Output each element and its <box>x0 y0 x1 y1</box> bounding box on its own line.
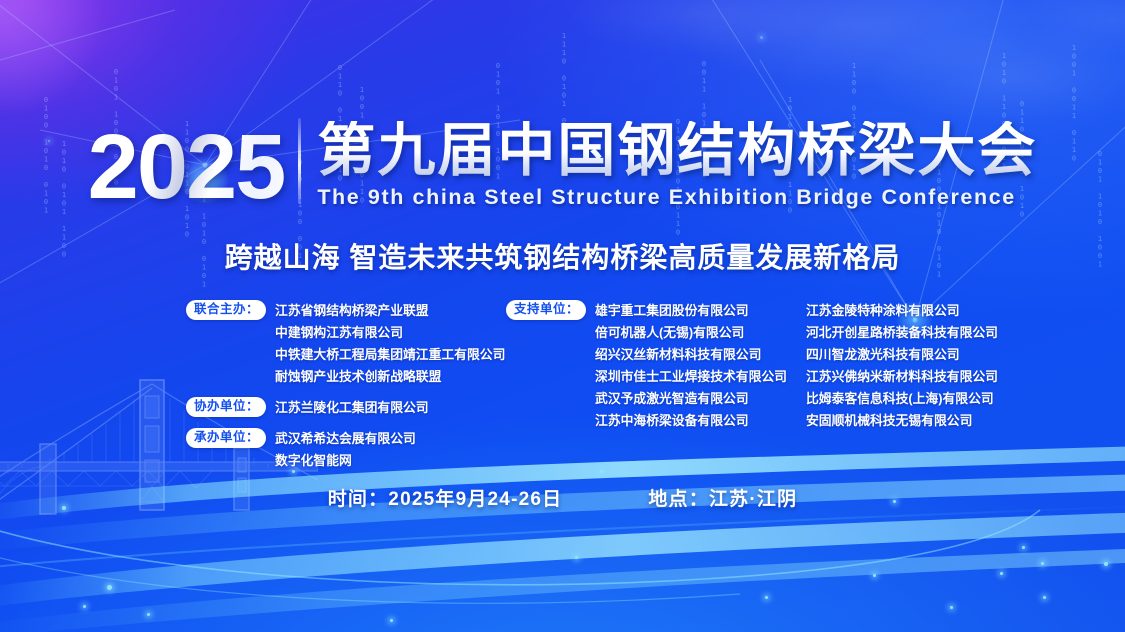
list-item: 江苏兰陵化工集团有限公司 <box>275 397 429 419</box>
list-item: 雄宇重工集团股份有限公司 <box>595 300 787 322</box>
banner-header: 2025 第九届中国钢结构桥梁大会 The 9th china Steel St… <box>0 118 1125 210</box>
list-item: 安固顺机械科技无锡有限公司 <box>806 410 998 432</box>
organizations-right-column: 江苏金陵特种涂料有限公司 河北开创星路桥装备科技有限公司 四川智龙激光科技有限公… <box>806 300 1106 432</box>
org-list-undertakers: 武汉希希达会展有限公司 数字化智能网 <box>275 428 416 472</box>
org-list-co-organizers: 江苏兰陵化工集团有限公司 <box>275 397 429 419</box>
list-item: 中铁建大桥工程局集团靖江重工有限公司 <box>275 344 505 366</box>
list-item: 江苏兴佛纳米新材料科技有限公司 <box>806 366 998 388</box>
list-item: 比姆泰客信息科技(上海)有限公司 <box>806 388 998 410</box>
conference-title-english: The 9th china Steel Structure Exhibition… <box>317 185 1037 210</box>
list-item: 武汉予成激光智造有限公司 <box>595 388 787 410</box>
org-label-co-organizers: 协办单位： <box>186 397 266 417</box>
organizations-left-column: 联合主办： 江苏省钢结构桥梁产业联盟 中建钢构江苏有限公司 中铁建大桥工程局集团… <box>186 300 516 472</box>
organizations-middle-column: 支持单位： 雄宇重工集团股份有限公司 倍可机器人(无锡)有限公司 绍兴汉丝新材料… <box>506 300 806 432</box>
list-item: 深圳市佳士工业焊接技术有限公司 <box>595 366 787 388</box>
list-item: 耐蚀钢产业技术创新战略联盟 <box>275 366 505 388</box>
list-item: 江苏省钢结构桥梁产业联盟 <box>275 300 505 322</box>
org-label-supporters: 支持单位： <box>506 300 586 320</box>
list-item: 武汉希希达会展有限公司 <box>275 428 416 450</box>
organizations-section: 联合主办： 江苏省钢结构桥梁产业联盟 中建钢构江苏有限公司 中铁建大桥工程局集团… <box>0 300 1125 450</box>
list-item: 绍兴汉丝新材料科技有限公司 <box>595 344 787 366</box>
conference-title-chinese: 第九届中国钢结构桥梁大会 <box>317 121 1037 180</box>
org-label-co-hosts: 联合主办： <box>186 300 266 320</box>
title-divider <box>298 118 301 204</box>
event-location: 地点：江苏·江阴 <box>648 484 797 511</box>
org-list-co-hosts: 江苏省钢结构桥梁产业联盟 中建钢构江苏有限公司 中铁建大桥工程局集团靖江重工有限… <box>275 300 505 388</box>
year-logo: 2025 <box>88 125 299 210</box>
list-item: 江苏中海桥梁设备有限公司 <box>595 410 787 432</box>
org-label-undertakers: 承办单位： <box>186 428 266 448</box>
org-list-supporters-continued: 江苏金陵特种涂料有限公司 河北开创星路桥装备科技有限公司 四川智龙激光科技有限公… <box>806 300 998 432</box>
event-time: 时间：2025年9月24-26日 <box>328 484 563 511</box>
org-group-undertakers: 承办单位： 武汉希希达会展有限公司 数字化智能网 <box>186 428 516 472</box>
conference-slogan: 跨越山海 智造未来共筑钢结构桥梁高质量发展新格局 <box>0 236 1125 276</box>
conference-banner: 0100 1010 0101 1010 0101 1100 0101 1001 … <box>0 0 1125 632</box>
list-item: 江苏金陵特种涂料有限公司 <box>806 300 998 322</box>
list-item: 数字化智能网 <box>275 450 416 472</box>
list-item: 中建钢构江苏有限公司 <box>275 322 505 344</box>
list-item: 倍可机器人(无锡)有限公司 <box>595 322 787 344</box>
org-group-co-hosts: 联合主办： 江苏省钢结构桥梁产业联盟 中建钢构江苏有限公司 中铁建大桥工程局集团… <box>186 300 516 388</box>
org-group-supporters-continued: 江苏金陵特种涂料有限公司 河北开创星路桥装备科技有限公司 四川智龙激光科技有限公… <box>806 300 1106 432</box>
org-group-supporters: 支持单位： 雄宇重工集团股份有限公司 倍可机器人(无锡)有限公司 绍兴汉丝新材料… <box>506 300 806 432</box>
list-item: 四川智龙激光科技有限公司 <box>806 344 998 366</box>
org-list-supporters: 雄宇重工集团股份有限公司 倍可机器人(无锡)有限公司 绍兴汉丝新材料科技有限公司… <box>595 300 787 432</box>
org-group-co-organizers: 协办单位： 江苏兰陵化工集团有限公司 <box>186 397 516 419</box>
event-meta: 时间：2025年9月24-26日 地点：江苏·江阴 <box>0 484 1125 511</box>
list-item: 河北开创星路桥装备科技有限公司 <box>806 322 998 344</box>
